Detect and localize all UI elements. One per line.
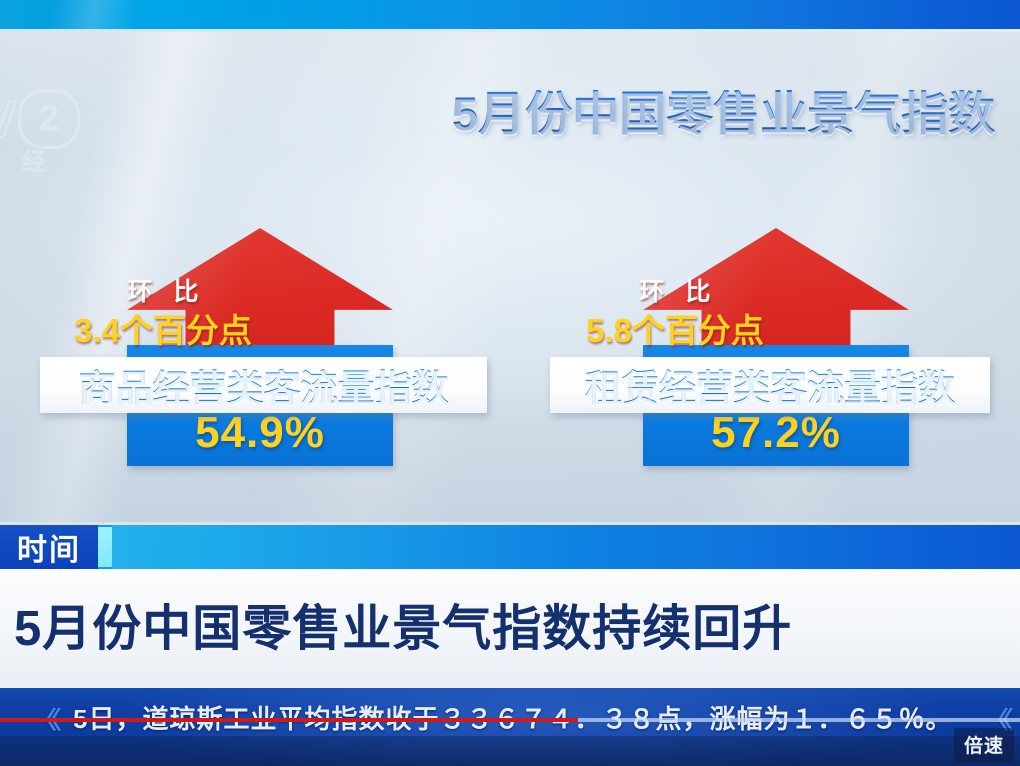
index-name-label: 商品经营类客流量指数: [79, 358, 449, 412]
top-gradient-bar: [0, 0, 1020, 29]
playback-speed-button[interactable]: 倍速: [954, 728, 1014, 762]
ticker-marker-icon: 《: [30, 700, 63, 735]
index-percent-value: 54.9%: [127, 408, 393, 458]
change-value: 3.4个百分点: [30, 304, 296, 352]
banner-divider: [98, 527, 112, 567]
banner-sheen: [112, 525, 592, 569]
player-control-bar: [0, 736, 1020, 766]
index-name-label: 租赁经营类客流量指数: [585, 358, 955, 412]
headline-text: 5月份中国零售业景气指数持续回升: [14, 589, 792, 660]
ticker-row: 《 5日，道琼斯工业平均指数收于３３６７４．３８点，涨幅为１．６５％。 《 5: [0, 696, 1020, 738]
graphic-title: 5月份中国零售业景气指数: [452, 90, 995, 137]
top-bar-sheen: [0, 0, 170, 29]
index-name-plate: 租赁经营类客流量指数: [550, 357, 990, 413]
graphic-stage: V 2 经 5月份中国零售业景气指数 环 比 3.4个百分点 54.9% 商品经…: [0, 32, 1020, 522]
index-percent-value: 57.2%: [643, 408, 909, 458]
headline-area: 5月份中国零售业景气指数持续回升: [0, 569, 1020, 688]
change-label: 环 比: [30, 272, 296, 308]
ticker-text: 5日，道琼斯工业平均指数收于３３６７４．３８点，涨幅为１．６５％。: [73, 699, 952, 736]
lower-third-banner: 时间: [0, 525, 1020, 569]
program-label: 时间: [0, 525, 98, 569]
change-value: 5.8个百分点: [542, 304, 808, 352]
change-label: 环 比: [542, 272, 808, 308]
broadcast-screen: V 2 经 5月份中国零售业景气指数 环 比 3.4个百分点 54.9% 商品经…: [0, 0, 1020, 766]
index-name-plate: 商品经营类客流量指数: [40, 357, 487, 413]
video-progress-fill[interactable]: [0, 718, 578, 722]
